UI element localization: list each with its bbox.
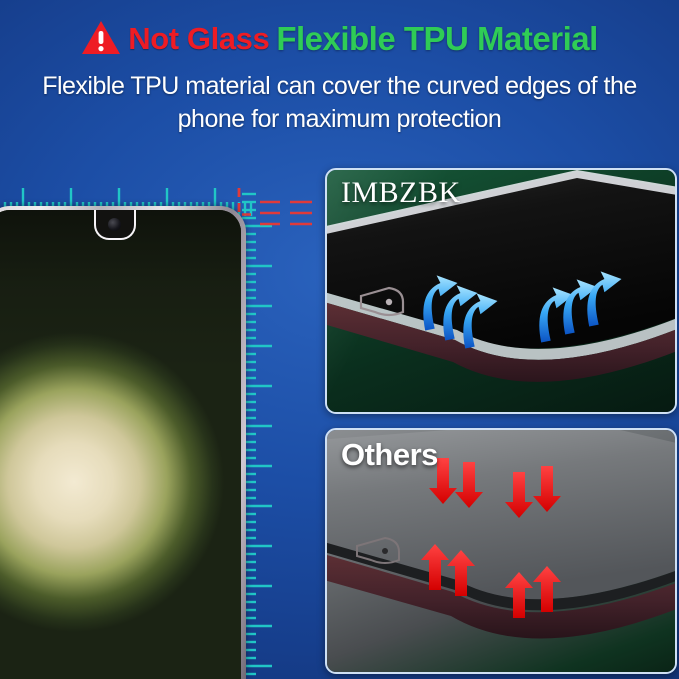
- punch-hole-camera-icon: [94, 210, 136, 240]
- brand-label-others: Others: [341, 438, 438, 472]
- subtitle-text: Flexible TPU material can cover the curv…: [14, 70, 665, 136]
- comparison-panel-others: Others: [325, 428, 677, 674]
- warning-triangle-icon: [81, 20, 121, 56]
- camera-lens-icon: [108, 218, 121, 231]
- header-banner: Not Glass Flexible TPU Material Flexible…: [0, 0, 679, 148]
- comparison-panel-imbzbk: IMBZBK: [325, 168, 677, 414]
- page-title: Flexible TPU Material: [276, 22, 597, 55]
- brand-label-imbzbk: IMBZBK: [341, 176, 461, 209]
- measurement-guide-icon: [258, 196, 318, 232]
- product-preview: [0, 160, 316, 679]
- product-feature-image: Not Glass Flexible TPU Material Flexible…: [0, 0, 679, 679]
- headline-row: Not Glass Flexible TPU Material: [0, 16, 679, 60]
- phone-screen: [0, 210, 241, 679]
- screen-shading: [0, 210, 241, 679]
- phone-device: [0, 206, 246, 679]
- not-glass-badge: Not Glass: [128, 23, 269, 54]
